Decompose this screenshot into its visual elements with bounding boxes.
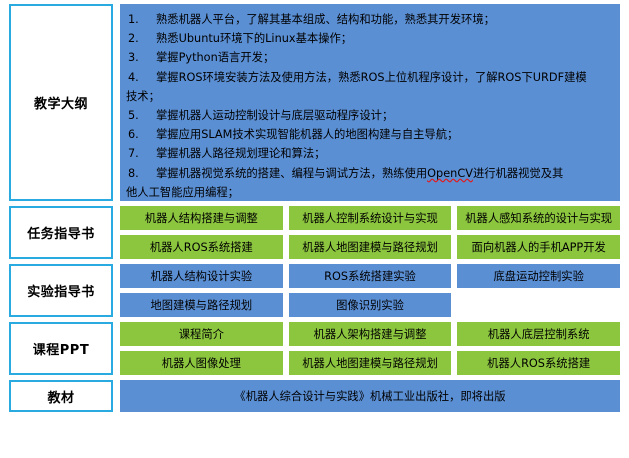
syllabus-item: 6. 掌握应用SLAM技术实现智能机器人的地图构建与自主导航； xyxy=(125,125,615,144)
textbook-entry[interactable]: 《机器人综合设计与实践》机械工业出版社，即将出版 xyxy=(120,380,620,412)
syllabus-item: 5. 掌握机器人运动控制设计与底层驱动程序设计； xyxy=(125,106,615,125)
syllabus-item-text: 熟悉Ubuntu环境下的Linux基本操作； xyxy=(156,29,615,48)
syllabus-item8-after: 进行机器视觉及其 xyxy=(473,167,563,180)
syllabus-item-number: 4. xyxy=(125,68,156,87)
course-ppt-item[interactable]: 机器人地图建模与路径规划 xyxy=(289,351,452,375)
syllabus-text-box: 1. 熟悉机器人平台，了解其基本组成、结构和功能，熟悉其开发环境； 2. 熟悉U… xyxy=(120,4,620,201)
section-course-ppt: 课程PPT 课程简介 机器人架构搭建与调整 机器人底层控制系统 机器人图像处理 … xyxy=(0,322,629,375)
syllabus-item-number: 2. xyxy=(125,29,156,48)
task-guide-content: 机器人结构搭建与调整 机器人控制系统设计与实现 机器人感知系统的设计与实现 机器… xyxy=(120,206,629,259)
syllabus-item-continuation: 他人工智能应用编程； xyxy=(125,183,615,201)
lab-guide-item-empty xyxy=(457,293,620,317)
lab-guide-item[interactable]: 机器人结构设计实验 xyxy=(120,264,283,288)
syllabus-item: 8. 掌握机器视觉系统的搭建、编程与调试方法，熟练使用OpenCV进行机器视觉及… xyxy=(125,164,615,183)
task-guide-item[interactable]: 机器人结构搭建与调整 xyxy=(120,206,283,230)
syllabus-item-number: 3. xyxy=(125,48,156,67)
course-ppt-item[interactable]: 课程简介 xyxy=(120,322,283,346)
syllabus-item-number: 1. xyxy=(125,10,156,29)
syllabus-item-text: 掌握Python语言开发； xyxy=(156,48,615,67)
course-ppt-grid: 课程简介 机器人架构搭建与调整 机器人底层控制系统 机器人图像处理 机器人地图建… xyxy=(120,322,620,375)
section-syllabus: 教学大纲 1. 熟悉机器人平台，了解其基本组成、结构和功能，熟悉其开发环境； 2… xyxy=(0,0,629,201)
syllabus-item: 4. 掌握ROS环境安装方法及使用方法，熟悉ROS上位机程序设计，了解ROS下U… xyxy=(125,68,615,87)
syllabus-item-text: 掌握ROS环境安装方法及使用方法，熟悉ROS上位机程序设计，了解ROS下URDF… xyxy=(156,68,615,87)
lab-guide-row: 机器人结构设计实验 ROS系统搭建实验 底盘运动控制实验 xyxy=(120,264,620,288)
syllabus-item-number: 5. xyxy=(125,106,156,125)
course-ppt-item[interactable]: 机器人ROS系统搭建 xyxy=(457,351,620,375)
lab-guide-item[interactable]: ROS系统搭建实验 xyxy=(289,264,452,288)
syllabus-item8-misspelled-term: OpenCV xyxy=(427,167,473,180)
lab-guide-item[interactable]: 图像识别实验 xyxy=(289,293,452,317)
syllabus-item-number: 6. xyxy=(125,125,156,144)
course-ppt-item[interactable]: 机器人底层控制系统 xyxy=(457,322,620,346)
syllabus-item-number: 7. xyxy=(125,144,156,163)
syllabus-item: 1. 熟悉机器人平台，了解其基本组成、结构和功能，熟悉其开发环境； xyxy=(125,10,615,29)
task-guide-row: 机器人ROS系统搭建 机器人地图建模与路径规划 面向机器人的手机APP开发 xyxy=(120,235,620,259)
section-textbook: 教材 《机器人综合设计与实践》机械工业出版社，即将出版 xyxy=(0,380,629,412)
course-ppt-item[interactable]: 机器人图像处理 xyxy=(120,351,283,375)
syllabus-item-text: 掌握机器人路径规划理论和算法； xyxy=(156,144,615,163)
row-label-textbook: 教材 xyxy=(9,380,113,412)
lab-guide-grid: 机器人结构设计实验 ROS系统搭建实验 底盘运动控制实验 地图建模与路径规划 图… xyxy=(120,264,620,317)
curriculum-resource-table: 教学大纲 1. 熟悉机器人平台，了解其基本组成、结构和功能，熟悉其开发环境； 2… xyxy=(0,0,629,458)
syllabus-item-text: 掌握机器人运动控制设计与底层驱动程序设计； xyxy=(156,106,615,125)
syllabus-item: 2. 熟悉Ubuntu环境下的Linux基本操作； xyxy=(125,29,615,48)
lab-guide-content: 机器人结构设计实验 ROS系统搭建实验 底盘运动控制实验 地图建模与路径规划 图… xyxy=(120,264,629,317)
course-ppt-content: 课程简介 机器人架构搭建与调整 机器人底层控制系统 机器人图像处理 机器人地图建… xyxy=(120,322,629,375)
task-guide-item[interactable]: 机器人控制系统设计与实现 xyxy=(289,206,452,230)
section-lab-guide: 实验指导书 机器人结构设计实验 ROS系统搭建实验 底盘运动控制实验 地图建模与… xyxy=(0,264,629,317)
syllabus-item-text: 熟悉机器人平台，了解其基本组成、结构和功能，熟悉其开发环境； xyxy=(156,10,615,29)
task-guide-item[interactable]: 机器人地图建模与路径规划 xyxy=(289,235,452,259)
course-ppt-item[interactable]: 机器人架构搭建与调整 xyxy=(289,322,452,346)
syllabus-item8-before: 掌握机器视觉系统的搭建、编程与调试方法，熟练使用 xyxy=(156,167,427,180)
task-guide-item[interactable]: 机器人感知系统的设计与实现 xyxy=(457,206,620,230)
syllabus-content: 1. 熟悉机器人平台，了解其基本组成、结构和功能，熟悉其开发环境； 2. 熟悉U… xyxy=(120,4,629,201)
textbook-content: 《机器人综合设计与实践》机械工业出版社，即将出版 xyxy=(120,380,629,412)
lab-guide-item[interactable]: 地图建模与路径规划 xyxy=(120,293,283,317)
task-guide-row: 机器人结构搭建与调整 机器人控制系统设计与实现 机器人感知系统的设计与实现 xyxy=(120,206,620,230)
syllabus-item-number: 8. xyxy=(125,164,156,183)
task-guide-item[interactable]: 机器人ROS系统搭建 xyxy=(120,235,283,259)
row-label-syllabus: 教学大纲 xyxy=(9,4,113,201)
lab-guide-row: 地图建模与路径规划 图像识别实验 xyxy=(120,293,620,317)
row-label-task-guide: 任务指导书 xyxy=(9,206,113,259)
syllabus-item-continuation: 技术； xyxy=(125,87,615,106)
syllabus-item: 7. 掌握机器人路径规划理论和算法； xyxy=(125,144,615,163)
row-label-lab-guide: 实验指导书 xyxy=(9,264,113,317)
course-ppt-row: 机器人图像处理 机器人地图建模与路径规划 机器人ROS系统搭建 xyxy=(120,351,620,375)
lab-guide-item[interactable]: 底盘运动控制实验 xyxy=(457,264,620,288)
syllabus-item: 3. 掌握Python语言开发； xyxy=(125,48,615,67)
syllabus-item-text: 掌握应用SLAM技术实现智能机器人的地图构建与自主导航； xyxy=(156,125,615,144)
course-ppt-row: 课程简介 机器人架构搭建与调整 机器人底层控制系统 xyxy=(120,322,620,346)
section-task-guide: 任务指导书 机器人结构搭建与调整 机器人控制系统设计与实现 机器人感知系统的设计… xyxy=(0,206,629,259)
row-label-course-ppt: 课程PPT xyxy=(9,322,113,375)
task-guide-grid: 机器人结构搭建与调整 机器人控制系统设计与实现 机器人感知系统的设计与实现 机器… xyxy=(120,206,620,259)
task-guide-item[interactable]: 面向机器人的手机APP开发 xyxy=(457,235,620,259)
syllabus-item-text-item8: 掌握机器视觉系统的搭建、编程与调试方法，熟练使用OpenCV进行机器视觉及其 xyxy=(156,164,615,183)
